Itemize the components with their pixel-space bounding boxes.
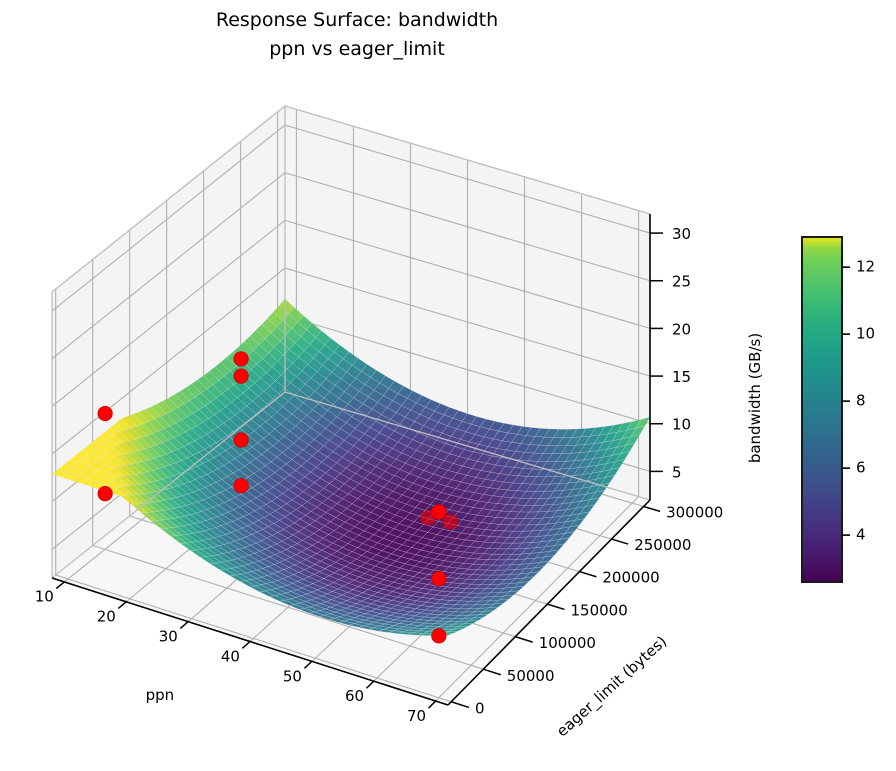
y-tick-label: 100000 [539, 634, 596, 652]
y-tick-label: 150000 [571, 601, 628, 619]
chart-title-line1: Response Surface: bandwidth [216, 9, 498, 31]
y-tick-label: 200000 [602, 569, 659, 587]
scatter-point [98, 406, 112, 420]
z-tick-label: 30 [672, 225, 691, 243]
x-tick-label: 30 [159, 627, 178, 645]
chart-title-line2: ppn vs eager_limit [269, 38, 445, 60]
response-surface-figure: Response Surface: bandwidth ppn vs eager… [0, 0, 896, 771]
z-tick-label: 25 [672, 273, 691, 291]
scatter-point [234, 479, 248, 493]
x-tick-label: 40 [221, 647, 240, 665]
scatter-point [421, 511, 435, 525]
x-tick-label: 50 [283, 667, 302, 685]
colorbar-tick-label: 10 [856, 325, 875, 343]
y-tick-label: 0 [475, 699, 485, 717]
x-axis-label: ppn [146, 686, 175, 704]
y-tick-label: 50000 [507, 667, 555, 685]
scatter-point [432, 571, 446, 585]
scatter-point [234, 352, 248, 366]
colorbar-tick-label: 4 [856, 526, 866, 544]
colorbar-gradient [802, 237, 842, 582]
scatter-point [234, 369, 248, 383]
z-tick-label: 20 [672, 320, 691, 338]
x-tick-label: 20 [97, 607, 116, 625]
scatter-point [432, 629, 446, 643]
scatter-point [443, 514, 457, 528]
scatter-point [98, 486, 112, 500]
x-tick-label: 70 [407, 707, 426, 725]
z-tick-label: 10 [672, 416, 691, 434]
z-axis-label: bandwidth (GB/s) [746, 333, 764, 463]
x-tick-label: 60 [345, 687, 364, 705]
z-tick-label: 5 [672, 463, 682, 481]
y-tick-label: 300000 [666, 503, 723, 521]
z-tick-label: 15 [672, 368, 691, 386]
y-tick-label: 250000 [634, 536, 691, 554]
scatter-point [234, 433, 248, 447]
colorbar-tick-label: 12 [856, 258, 875, 276]
x-tick-label: 10 [35, 588, 54, 606]
colorbar-tick-label: 8 [856, 392, 866, 410]
colorbar-tick-label: 6 [856, 459, 866, 477]
